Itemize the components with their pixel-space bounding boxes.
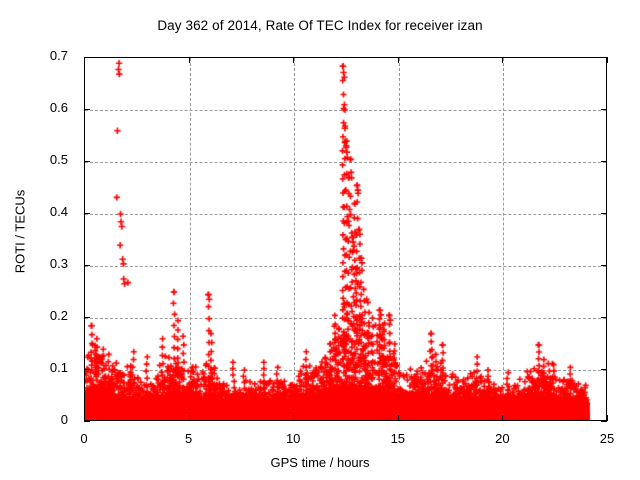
y-axis-title: ROTI / TECUs — [13, 162, 28, 302]
plot-area — [84, 57, 607, 421]
x-axis-tick-label: 25 — [600, 431, 614, 446]
x-axis-tick-mark — [502, 415, 503, 421]
y-axis-tick-mark — [84, 161, 90, 162]
x-axis-tick-label: 10 — [286, 431, 300, 446]
y-axis-tick-label: 0.6 — [50, 100, 68, 115]
y-axis-tick-label: 0.5 — [50, 152, 68, 167]
scatter-data-layer — [85, 58, 607, 421]
x-axis-tick-mark — [607, 57, 608, 63]
y-axis-tick-label: 0.2 — [50, 308, 68, 323]
y-axis-tick-mark — [601, 265, 607, 266]
x-axis-tick-mark — [84, 415, 85, 421]
x-axis-tick-mark — [189, 415, 190, 421]
y-axis-tick-mark — [601, 369, 607, 370]
y-axis-tick-label: 0.1 — [50, 360, 68, 375]
chart-title: Day 362 of 2014, Rate Of TEC Index for r… — [0, 18, 640, 33]
y-axis-tick-mark — [601, 213, 607, 214]
x-axis-tick-mark — [293, 57, 294, 63]
x-axis-tick-label: 15 — [391, 431, 405, 446]
x-axis-tick-label: 20 — [495, 431, 509, 446]
y-axis-tick-label: 0.7 — [50, 48, 68, 63]
x-axis-tick-label: 5 — [185, 431, 192, 446]
y-axis-tick-label: 0.3 — [50, 256, 68, 271]
x-axis-tick-mark — [502, 57, 503, 63]
y-axis-tick-mark — [84, 317, 90, 318]
y-axis-tick-mark — [84, 369, 90, 370]
y-axis-tick-mark — [84, 213, 90, 214]
chart-container: Day 362 of 2014, Rate Of TEC Index for r… — [0, 0, 640, 480]
x-axis-tick-mark — [607, 415, 608, 421]
y-axis-tick-mark — [601, 421, 607, 422]
x-axis-title: GPS time / hours — [0, 455, 640, 470]
y-axis-tick-mark — [601, 109, 607, 110]
y-axis-tick-mark — [601, 317, 607, 318]
y-axis-tick-label: 0.4 — [50, 204, 68, 219]
x-axis-tick-mark — [189, 57, 190, 63]
x-axis-tick-mark — [293, 415, 294, 421]
y-axis-tick-mark — [84, 109, 90, 110]
x-axis-tick-label: 0 — [80, 431, 87, 446]
x-axis-tick-mark — [84, 57, 85, 63]
y-axis-tick-mark — [84, 265, 90, 266]
y-axis-tick-label: 0 — [61, 412, 68, 427]
y-axis-tick-mark — [601, 161, 607, 162]
x-axis-tick-mark — [398, 57, 399, 63]
x-axis-tick-mark — [398, 415, 399, 421]
y-axis-tick-mark — [84, 421, 90, 422]
